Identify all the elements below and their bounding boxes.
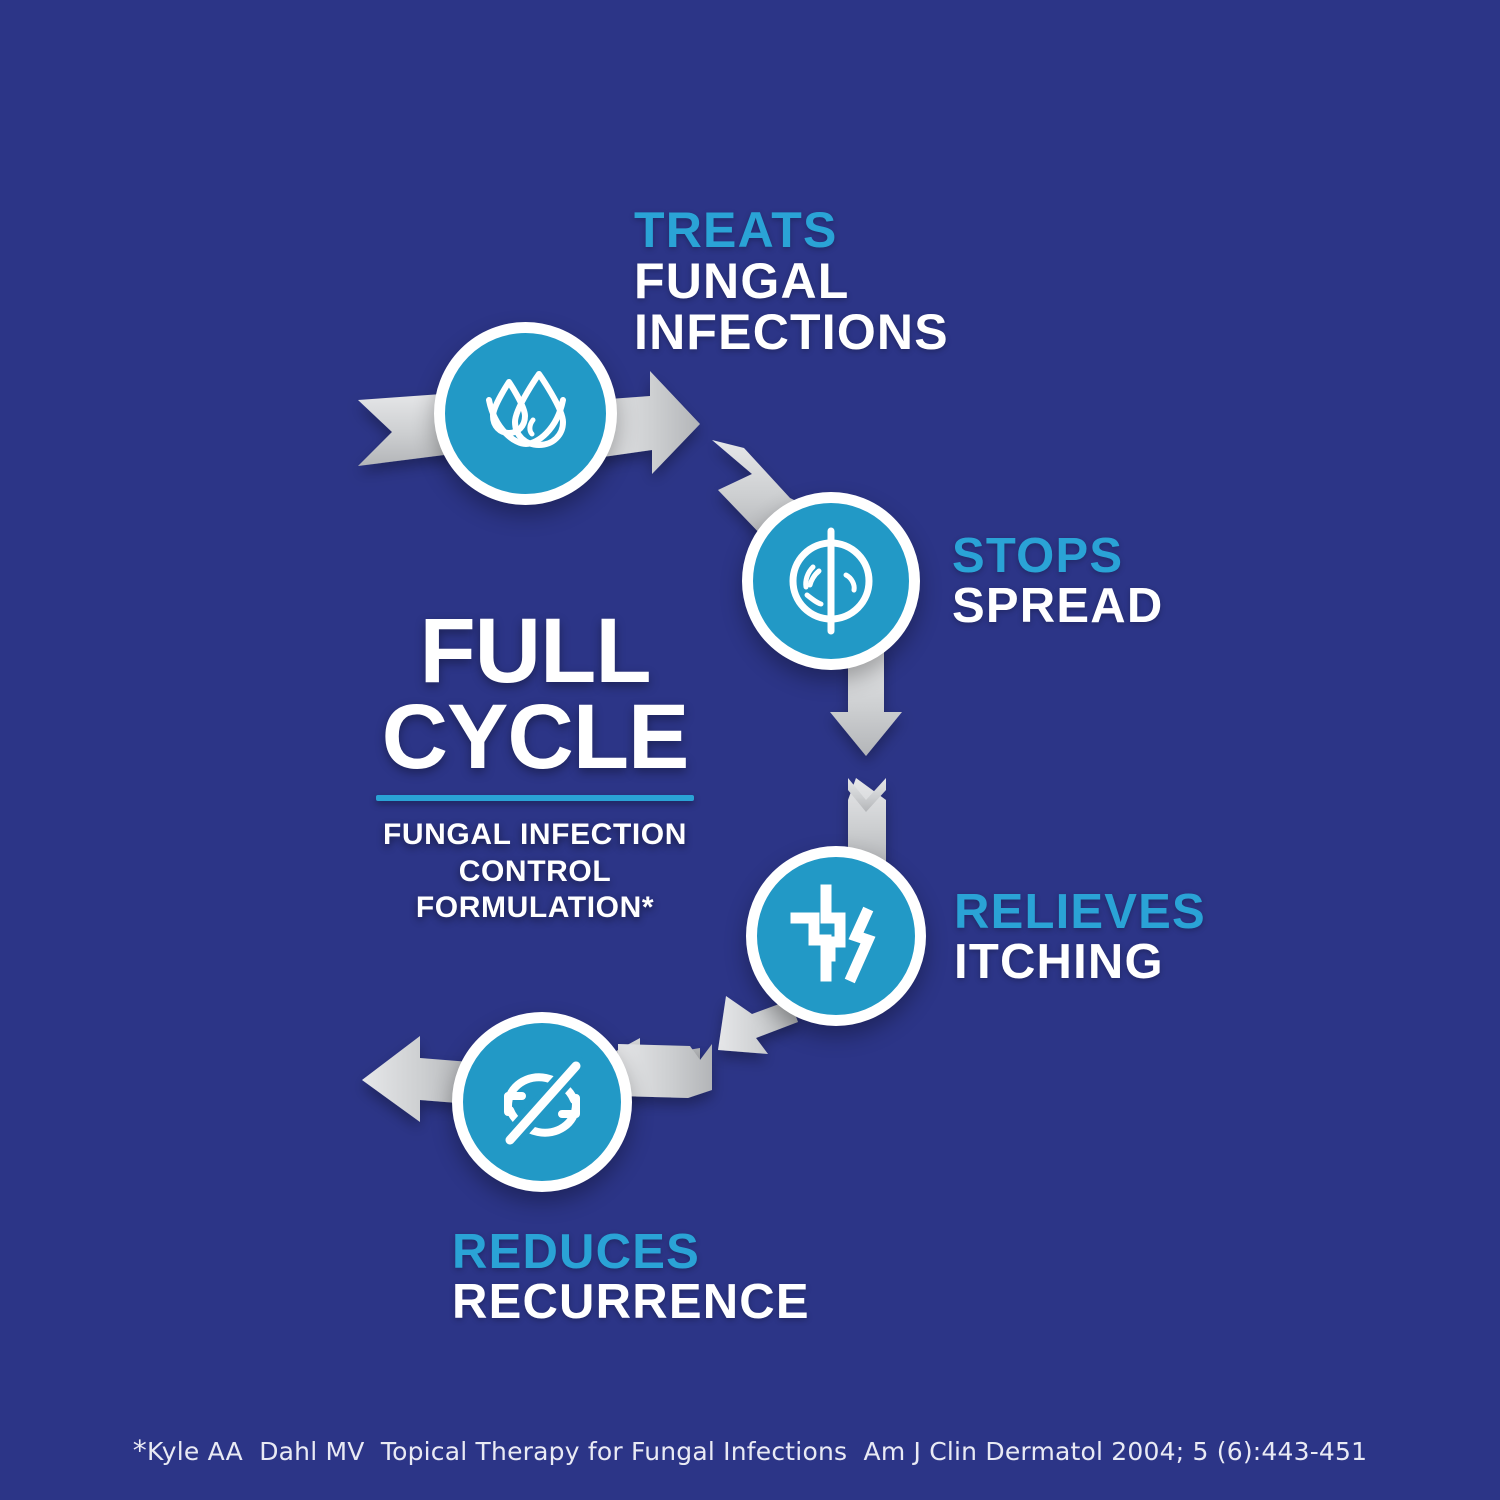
footnote-text: Kyle AA Dahl MV Topical Therapy for Fung… [147, 1437, 1367, 1466]
subtitle-line1: FUNGAL INFECTION [335, 817, 735, 854]
itch-lightning-icon [780, 884, 892, 988]
label-reduces: REDUCES RECURRENCE [452, 1228, 810, 1328]
label-treats-line1: FUNGAL [634, 256, 949, 307]
title-line-full: FULL [335, 608, 735, 694]
no-spread-prohibition-icon [779, 523, 883, 639]
label-relieves-line1: ITCHING [954, 938, 1206, 988]
footnote-marker: * [133, 1434, 147, 1467]
subtitle-line3: FORMULATION* [335, 890, 735, 927]
no-recurrence-recycle-icon [484, 1052, 600, 1152]
step-node-stops[interactable] [742, 492, 920, 670]
label-treats-line2: INFECTIONS [634, 307, 949, 358]
label-relieves: RELIEVES ITCHING [954, 888, 1206, 988]
label-treats: TREATS FUNGAL INFECTIONS [634, 205, 949, 358]
arrow-stops-to-relieves [830, 648, 902, 868]
label-stops-accent: STOPS [952, 532, 1163, 582]
step-node-reduces[interactable] [452, 1012, 632, 1192]
center-title-block: FULL CYCLE FUNGAL INFECTION CONTROL FORM… [335, 608, 735, 927]
step-node-relieves[interactable] [746, 846, 926, 1026]
label-stops: STOPS SPREAD [952, 532, 1163, 632]
infographic-canvas: TREATS FUNGAL INFECTIONS STOPS SPREAD RE… [0, 0, 1500, 1500]
step-node-treats[interactable] [434, 322, 617, 505]
label-treats-accent: TREATS [634, 205, 949, 256]
title-line-cycle: CYCLE [335, 694, 735, 780]
title-divider-rule [376, 795, 694, 801]
label-stops-line1: SPREAD [952, 582, 1163, 632]
water-drops-icon [471, 364, 581, 464]
subtitle-line2: CONTROL [335, 854, 735, 891]
label-relieves-accent: RELIEVES [954, 888, 1206, 938]
footnote-citation: *Kyle AA Dahl MV Topical Therapy for Fun… [0, 1437, 1500, 1466]
label-reduces-line1: RECURRENCE [452, 1278, 810, 1328]
label-reduces-accent: REDUCES [452, 1228, 810, 1278]
